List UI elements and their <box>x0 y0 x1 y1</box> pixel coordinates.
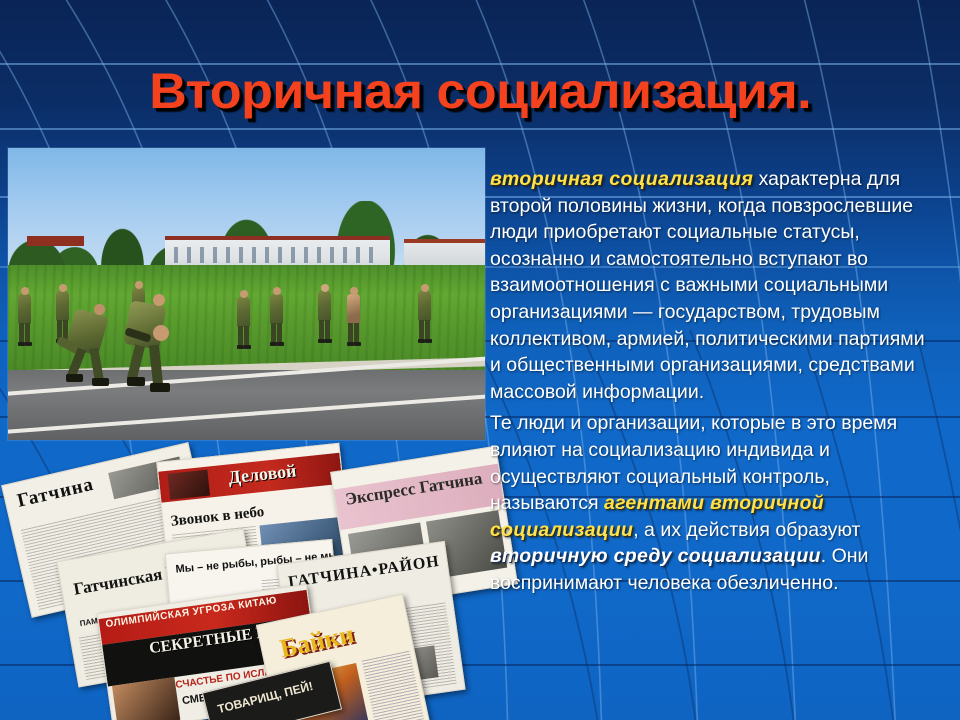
slide-body-text: вторичная социализация характерна для вт… <box>490 166 938 602</box>
emphasis-secondary-environment: вторичную среду социализации <box>490 545 821 567</box>
paragraph-2: Те люди и организации, которые в это вре… <box>490 410 938 596</box>
newspapers-collage: Гатчина Деловой Звонок в небо Экспресс Г… <box>10 448 480 720</box>
photo-red-roof <box>27 236 84 246</box>
slide-title-container: Вторичная социализация. <box>0 62 960 120</box>
photo-barracks-building <box>165 236 389 268</box>
presentation-slide: Вторичная социализация. <box>0 0 960 720</box>
lead-term: вторичная социализация <box>490 168 753 190</box>
newspaper-masthead: ГАТЧИНА•РАЙОН <box>287 553 441 592</box>
newspaper-masthead: Гатчина <box>15 474 96 513</box>
latitude-line <box>0 128 960 130</box>
page-title: Вторичная социализация. <box>149 62 811 120</box>
photo-secondary-building <box>404 239 485 265</box>
paragraph-2-part-2: , а их действия образуют <box>633 519 860 541</box>
newspaper-masthead: Байки <box>277 619 357 664</box>
newspaper-masthead: ТОВАРИЩ, ПЕЙ! <box>216 679 314 716</box>
paragraph-1: вторичная социализация характерна для вт… <box>490 166 938 405</box>
paragraph-1-rest: характерна для второй половины жизни, ко… <box>490 168 925 403</box>
soldiers-photo <box>8 148 485 440</box>
